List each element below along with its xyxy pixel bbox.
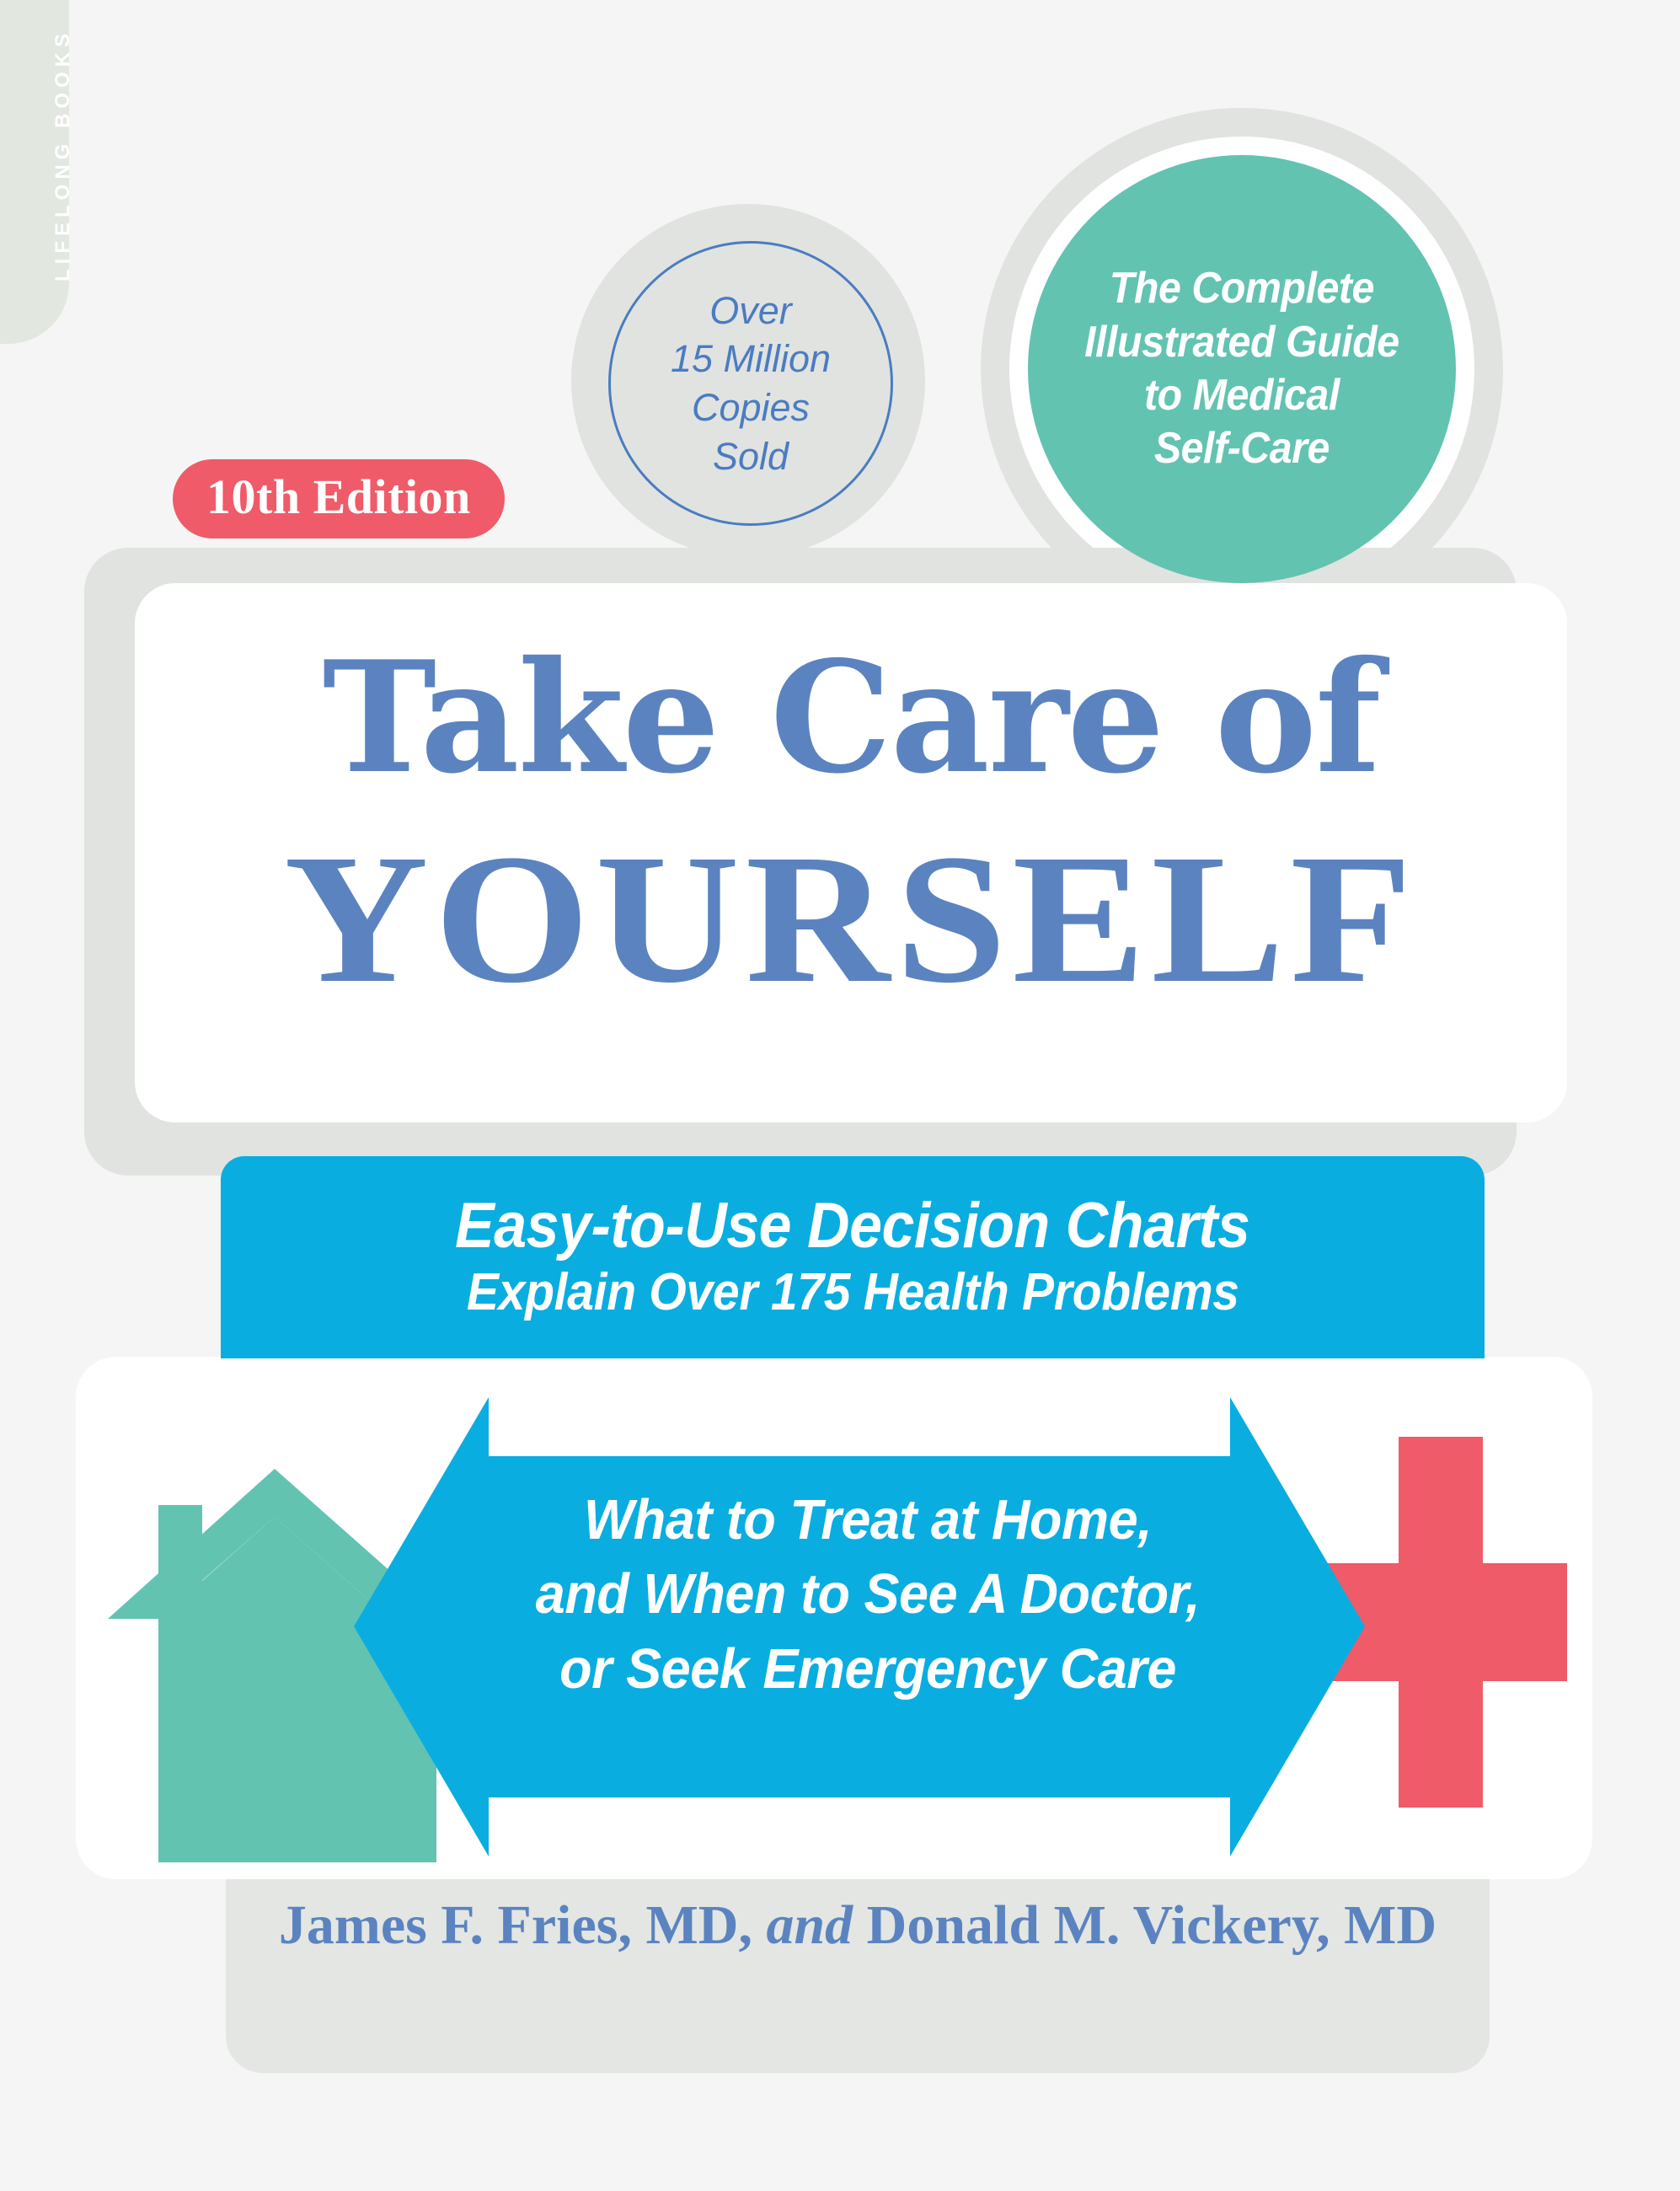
book-cover: LIFELONG BOOKS Over 15 Million Copies So… [0, 0, 1680, 2191]
author-primary: James F. Fries, MD, [279, 1894, 752, 1956]
arrow-tagline-line-1: What to Treat at Home, [448, 1483, 1287, 1557]
arrow-tagline-line-2: and When to See A Doctor, [448, 1557, 1287, 1631]
tagline-line-1: The Complete [1084, 262, 1399, 315]
tagline-teal-circle: The Complete Illustrated Guide to Medica… [1028, 155, 1456, 583]
author-secondary: Donald M. Vickery, MD [867, 1894, 1437, 1956]
subtitle-banner: Easy-to-Use Decision Charts Explain Over… [221, 1156, 1485, 1358]
tagline-text: The Complete Illustrated Guide to Medica… [1073, 262, 1410, 476]
author-conjunction: and [766, 1894, 853, 1956]
arrow-tagline-line-3: or Seek Emergency Care [448, 1632, 1287, 1706]
tagline-line-2: Illustrated Guide [1084, 316, 1399, 369]
copies-sold-line-1: Over [671, 287, 831, 335]
subtitle-line-2: Explain Over 175 Health Problems [467, 1264, 1239, 1321]
copies-sold-line-4: Sold [671, 432, 831, 481]
tagline-line-3: to Medical [1084, 369, 1399, 422]
subtitle-line-1: Easy-to-Use Decision Charts [455, 1192, 1249, 1259]
arrow-tagline-text: What to Treat at Home, and When to See A… [448, 1483, 1287, 1706]
copies-sold-badge: Over 15 Million Copies Sold [608, 241, 893, 526]
tagline-line-4: Self-Care [1084, 422, 1399, 475]
author-names: James F. Fries, MD, and Donald M. Vicker… [226, 1898, 1490, 1953]
copies-sold-line-3: Copies [671, 383, 831, 432]
copies-sold-line-2: 15 Million [671, 335, 831, 383]
edition-badge: 10th Edition [173, 459, 505, 538]
book-title-line-2: YOURSELF [78, 826, 1624, 1011]
publisher-imprint-label: LIFELONG BOOKS [51, 29, 75, 281]
copies-sold-text: Over 15 Million Copies Sold [671, 287, 831, 480]
book-title-line-1: Take Care of [135, 640, 1567, 794]
